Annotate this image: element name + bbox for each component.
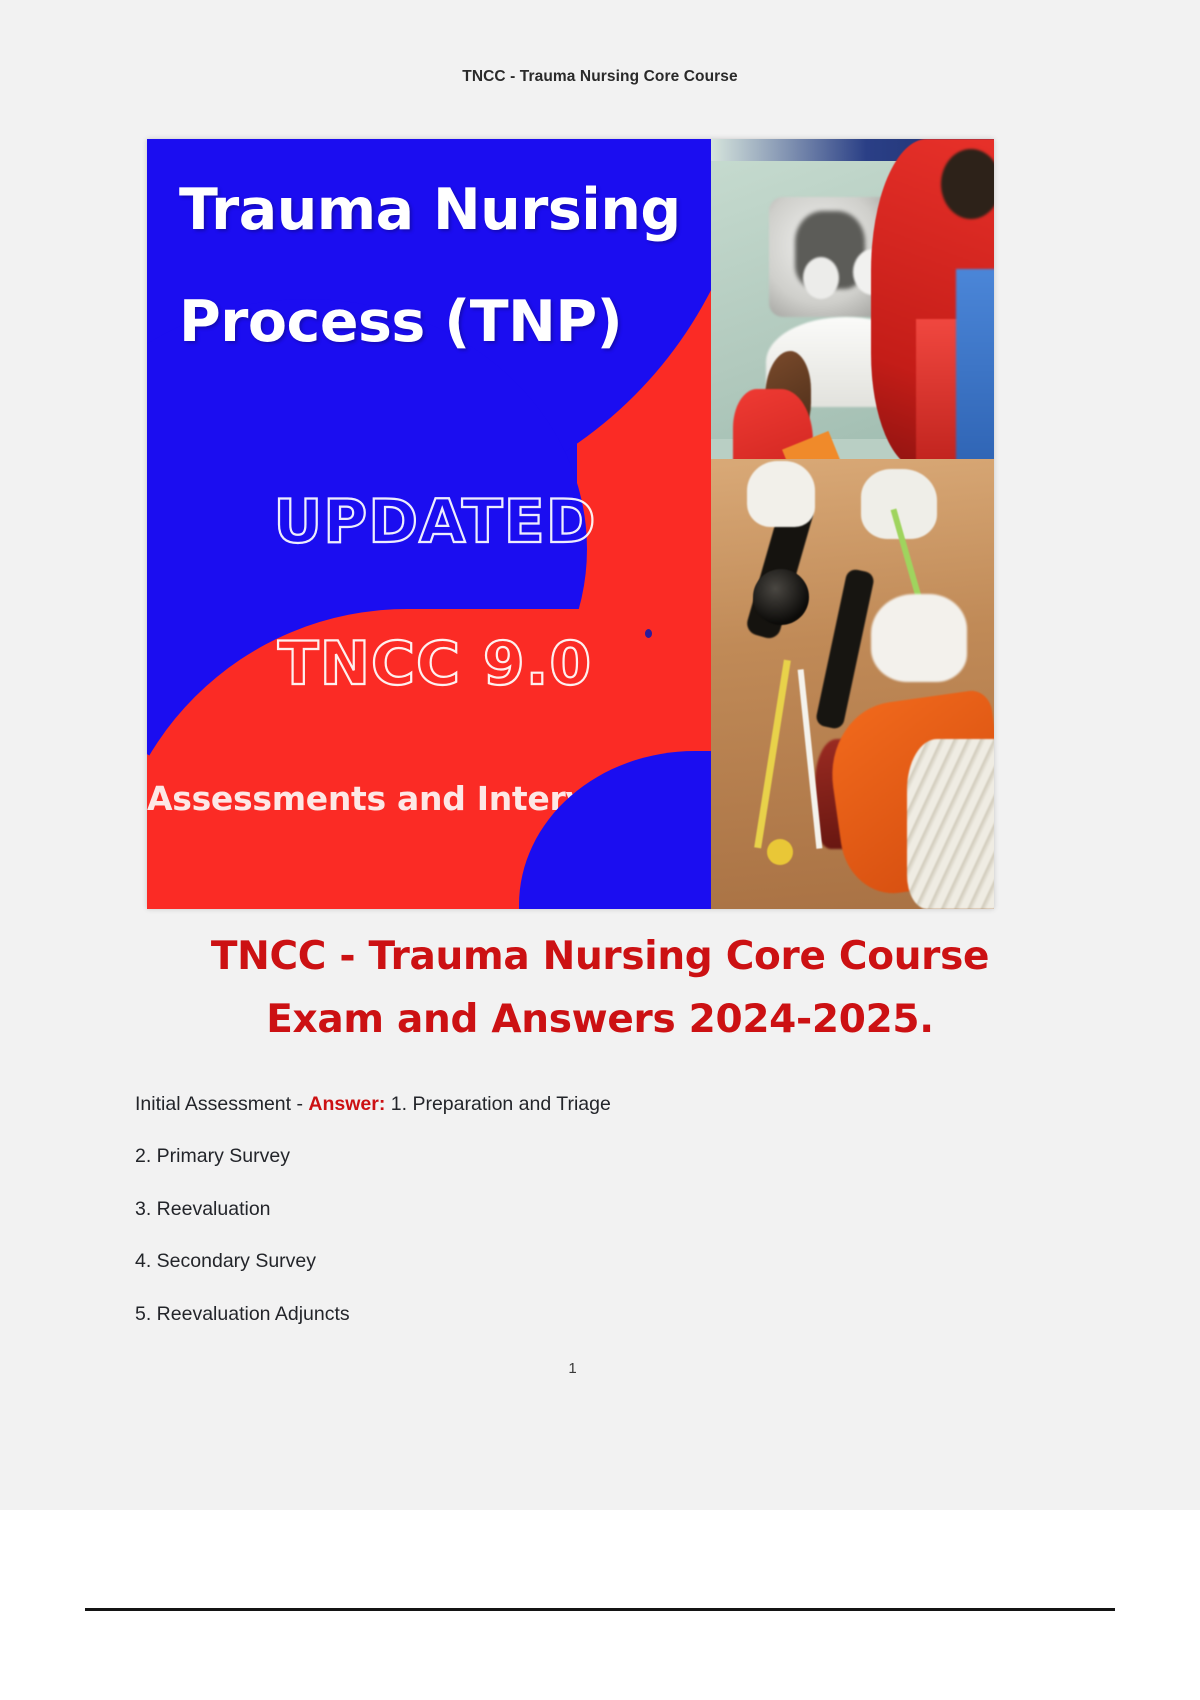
photo-blue-scrub [956,269,994,469]
photo-gloved-hand-3 [871,594,967,682]
answer-label: Answer: [308,1093,385,1115]
list-item: 2. Primary Survey [135,1145,1035,1168]
list-item: 4. Secondary Survey [135,1250,1035,1273]
photo-yellow-connector [767,839,793,865]
list-item: 5. Reevaluation Adjuncts [135,1303,1035,1326]
cover-image: Trauma Nursing Process (TNP) UPDATED TNC… [147,139,994,909]
photo-equipment-wheel-left [803,257,839,299]
photo-responder-head [941,149,994,219]
page-title: TNCC - Trauma Nursing Core Course Exam a… [0,925,1200,1051]
cover-title-line-2: Process (TNP) [179,289,622,355]
intro-prefix: Initial Assessment - [135,1093,308,1115]
next-page-divider [85,1608,1115,1611]
cover-graphic-panel: Trauma Nursing Process (TNP) UPDATED TNC… [147,139,711,909]
cover-version-text: TNCC 9.0 [185,629,685,699]
running-header: TNCC - Trauma Nursing Core Course [0,68,1200,86]
list-item: 3. Reevaluation [135,1198,1035,1221]
intro-line: Initial Assessment - Answer: 1. Preparat… [135,1093,1035,1116]
document-page: TNCC - Trauma Nursing Core Course Trauma… [0,0,1200,1510]
page-number: 1 [0,1360,1145,1377]
page-title-line-1: TNCC - Trauma Nursing Core Course [0,925,1200,988]
page-gap [0,1510,1200,1700]
cover-dot-mark [645,629,652,638]
photo-gauze [907,739,994,909]
photo-gloved-hand-1 [747,461,815,527]
body-content: Initial Assessment - Answer: 1. Preparat… [135,1093,1035,1355]
photo-device-lens [753,569,809,625]
page-title-line-2: Exam and Answers 2024-2025. [0,988,1200,1051]
cover-updated-text: UPDATED [185,487,685,557]
cover-photograph [711,139,994,909]
cover-title-line-1: Trauma Nursing [179,177,681,243]
intro-suffix: 1. Preparation and Triage [385,1093,610,1115]
